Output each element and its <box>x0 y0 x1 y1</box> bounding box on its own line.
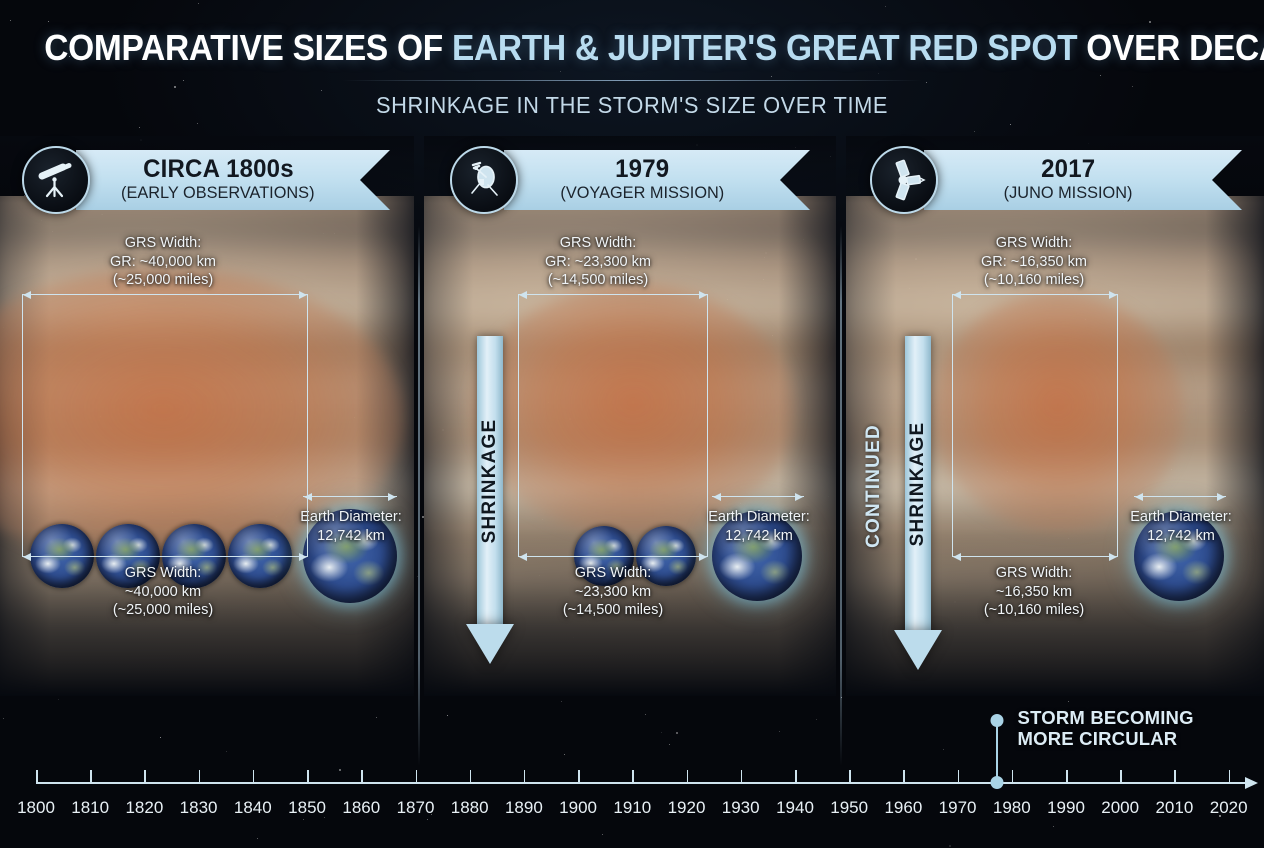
timeline-tick <box>199 770 201 784</box>
timeline-year-label: 1870 <box>397 798 435 818</box>
arrowhead-right <box>699 553 707 561</box>
bracket-line <box>303 496 397 497</box>
header: COMPARATIVE SIZES OF EARTH & JUPITER'S G… <box>0 0 1264 136</box>
shrinkage-label: SHRINKAGE <box>907 422 929 547</box>
panel-mission: (VOYAGER MISSION) <box>560 184 724 203</box>
panel-mission: (EARLY OBSERVATIONS) <box>121 184 314 203</box>
timeline-year-label: 1910 <box>613 798 651 818</box>
timeline-year-label: 1880 <box>451 798 489 818</box>
timeline-tick <box>90 770 92 784</box>
timeline-tick <box>307 770 309 784</box>
title-suffix: OVER DECADES <box>1077 27 1264 68</box>
grs-width-bracket-bottom <box>952 556 1118 557</box>
timeline-axis <box>36 782 1246 784</box>
arrowhead-left <box>953 553 961 561</box>
timeline-year-label: 1830 <box>180 798 218 818</box>
grs-width-title: GRS Width: <box>468 234 728 253</box>
timeline-tick <box>849 770 851 784</box>
annotation-stem <box>996 720 998 782</box>
timeline-tick <box>36 770 38 784</box>
bracket-line <box>952 556 1118 557</box>
grs-width-bracket-top <box>22 294 308 295</box>
grs-width-bracket-top <box>952 294 1118 295</box>
earth-diameter-label: Earth Diameter: 12,742 km <box>1118 508 1244 545</box>
timeline-tick <box>741 770 743 784</box>
juno-spacecraft-icon <box>870 146 938 214</box>
timeline-tick <box>361 770 363 784</box>
timeline-tick <box>903 770 905 784</box>
panel-year: 1979 <box>615 157 669 183</box>
arrowhead-left <box>519 553 527 561</box>
timeline-year-label: 2010 <box>1155 798 1193 818</box>
bracket-cap-left <box>952 294 953 556</box>
ribbon-circa-1800s: CIRCA 1800s (EARLY OBSERVATIONS) <box>76 150 390 210</box>
earth-diameter-label: Earth Diameter: 12,742 km <box>696 508 822 545</box>
bracket-cap-left <box>22 294 23 556</box>
bracket-line <box>22 556 308 557</box>
bracket-line <box>712 496 804 497</box>
timeline-year-label: 2020 <box>1210 798 1248 818</box>
bracket-line <box>518 294 708 295</box>
earth-diameter-title: Earth Diameter: <box>696 508 822 527</box>
timeline-tick <box>416 770 418 784</box>
arrow-shaft: SHRINKAGE <box>905 336 931 632</box>
annotation-text: STORM BECOMING MORE CIRCULAR <box>1018 708 1194 749</box>
annotation-line-2: MORE CIRCULAR <box>1018 729 1194 750</box>
grs-width-miles: (~14,500 miles) <box>468 271 728 290</box>
timeline-year-label: 1960 <box>884 798 922 818</box>
grs-width-bracket-bottom <box>518 556 708 557</box>
title-prefix: COMPARATIVE SIZES OF <box>44 27 452 68</box>
bracket-cap-right <box>1117 294 1118 556</box>
bracket-cap-left <box>518 294 519 556</box>
timeline-annotation[interactable]: STORM BECOMING MORE CIRCULAR <box>996 714 998 784</box>
bracket-cap-right <box>307 294 308 556</box>
timeline-tick <box>524 770 526 784</box>
arrow-head <box>466 624 514 664</box>
arrowhead-right <box>1217 493 1225 501</box>
timeline-year-label: 1840 <box>234 798 272 818</box>
grs-width-bracket-top <box>518 294 708 295</box>
panel-mission: (JUNO MISSION) <box>1004 184 1133 203</box>
banner-circa-1800s[interactable]: CIRCA 1800s (EARLY OBSERVATIONS) <box>22 150 390 210</box>
panel-year: 2017 <box>1041 157 1095 183</box>
timeline-year-label: 1980 <box>993 798 1031 818</box>
timeline-year-label: 1810 <box>71 798 109 818</box>
grs-width-km: GR: ~16,350 km <box>894 253 1174 272</box>
arrow-head <box>894 630 942 670</box>
panel-divider-1 <box>418 226 420 766</box>
timeline-year-label: 1860 <box>342 798 380 818</box>
timeline-year-label: 1820 <box>125 798 163 818</box>
earth-diameter-value: 12,742 km <box>1118 527 1244 546</box>
timeline-arrowhead <box>1245 777 1258 789</box>
earth-diameter-title: Earth Diameter: <box>1118 508 1244 527</box>
arrowhead-left <box>519 291 527 299</box>
arrow-shaft: SHRINKAGE <box>477 336 503 626</box>
bracket-line <box>1134 496 1226 497</box>
timeline-year-label: 1940 <box>776 798 814 818</box>
grs-width-label-bottom: GRS Width: ~40,000 km (~25,000 miles) <box>18 564 308 620</box>
timeline-tick <box>253 770 255 784</box>
arrowhead-left <box>304 493 312 501</box>
timeline-tick <box>1174 770 1176 784</box>
shrinkage-label: SHRINKAGE <box>479 419 501 544</box>
arrowhead-right <box>795 493 803 501</box>
timeline-tick <box>1066 770 1068 784</box>
timeline-tick <box>795 770 797 784</box>
earth-diameter-bracket <box>712 496 804 497</box>
timeline-tick <box>1120 770 1122 784</box>
timeline-tick <box>1012 770 1014 784</box>
arrowhead-left <box>953 291 961 299</box>
panels-container: GRS Width: GR: ~40,000 km (~25,000 miles… <box>0 136 1264 696</box>
grs-width-miles: (~25,000 miles) <box>18 271 308 290</box>
earth-diameter-bracket <box>1134 496 1226 497</box>
panel-divider-2 <box>840 226 842 766</box>
shrinkage-arrow-1: SHRINKAGE <box>462 336 518 666</box>
grs-width-title: GRS Width: <box>18 234 308 253</box>
arrowhead-left <box>1135 493 1143 501</box>
timeline-year-label: 1800 <box>17 798 55 818</box>
timeline-year-label: 1850 <box>288 798 326 818</box>
arrowhead-left <box>23 553 31 561</box>
timeline-tick <box>958 770 960 784</box>
title-highlight: EARTH & JUPITER'S GREAT RED SPOT <box>452 27 1077 68</box>
arrowhead-right <box>1109 553 1117 561</box>
grs-width-km: GR: ~23,300 km <box>468 253 728 272</box>
grs-width-label-top: GRS Width: GR: ~23,300 km (~14,500 miles… <box>468 234 728 290</box>
timeline-year-label: 1930 <box>722 798 760 818</box>
timeline: 1800181018201830184018501860187018801890… <box>0 698 1264 848</box>
earth-diameter-bracket <box>303 496 397 497</box>
page-title: COMPARATIVE SIZES OF EARTH & JUPITER'S G… <box>44 30 1220 66</box>
annotation-dot-bottom <box>990 776 1003 789</box>
timeline-year-label: 2000 <box>1101 798 1139 818</box>
timeline-year-label: 1890 <box>505 798 543 818</box>
grs-width-miles: (~25,000 miles) <box>18 601 308 620</box>
grs-width-km: GR: ~40,000 km <box>18 253 308 272</box>
grs-width-title: GRS Width: <box>894 234 1174 253</box>
infographic-canvas: COMPARATIVE SIZES OF EARTH & JUPITER'S G… <box>0 0 1264 848</box>
arrowhead-right <box>299 553 307 561</box>
timeline-tick <box>1229 770 1231 784</box>
arrowhead-left <box>23 291 31 299</box>
arrowhead-left <box>713 493 721 501</box>
page-subtitle: SHRINKAGE IN THE STORM'S SIZE OVER TIME <box>32 92 1233 119</box>
timeline-tick <box>632 770 634 784</box>
grs-width-km: ~40,000 km <box>18 583 308 602</box>
banner-2017[interactable]: 2017 (JUNO MISSION) <box>870 150 1242 210</box>
bracket-cap-right <box>707 294 708 556</box>
ribbon-1979: 1979 (VOYAGER MISSION) <box>504 150 810 210</box>
panel-circa-1800s: GRS Width: GR: ~40,000 km (~25,000 miles… <box>0 136 414 696</box>
timeline-tick <box>144 770 146 784</box>
timeline-year-label: 1990 <box>1047 798 1085 818</box>
voyager-spacecraft-icon <box>450 146 518 214</box>
timeline-tick <box>687 770 689 784</box>
bracket-line <box>22 294 308 295</box>
timeline-year-label: 1950 <box>830 798 868 818</box>
bracket-line <box>518 556 708 557</box>
timeline-tick <box>470 770 472 784</box>
bracket-line <box>952 294 1118 295</box>
title-divider <box>342 80 922 81</box>
grs-width-miles: (~10,160 miles) <box>894 271 1174 290</box>
timeline-year-label: 1900 <box>559 798 597 818</box>
timeline-tick <box>578 770 580 784</box>
ribbon-2017: 2017 (JUNO MISSION) <box>924 150 1242 210</box>
timeline-year-label: 1970 <box>939 798 977 818</box>
arrowhead-right <box>388 493 396 501</box>
annotation-line-1: STORM BECOMING <box>1018 708 1194 729</box>
panel-year: CIRCA 1800s <box>143 157 294 183</box>
earth-diameter-value: 12,742 km <box>696 527 822 546</box>
grs-width-label-top: GRS Width: GR: ~40,000 km (~25,000 miles… <box>18 234 308 290</box>
continued-label: CONTINUED <box>863 424 885 548</box>
grs-width-label-top: GRS Width: GR: ~16,350 km (~10,160 miles… <box>894 234 1174 290</box>
timeline-year-label: 1920 <box>668 798 706 818</box>
annotation-dot-top <box>990 714 1003 727</box>
banner-1979[interactable]: 1979 (VOYAGER MISSION) <box>450 150 810 210</box>
grs-width-bracket-bottom <box>22 556 308 557</box>
shrinkage-arrow-2: SHRINKAGE CONTINUED <box>890 336 946 676</box>
telescope-icon <box>22 146 90 214</box>
grs-width-title: GRS Width: <box>18 564 308 583</box>
